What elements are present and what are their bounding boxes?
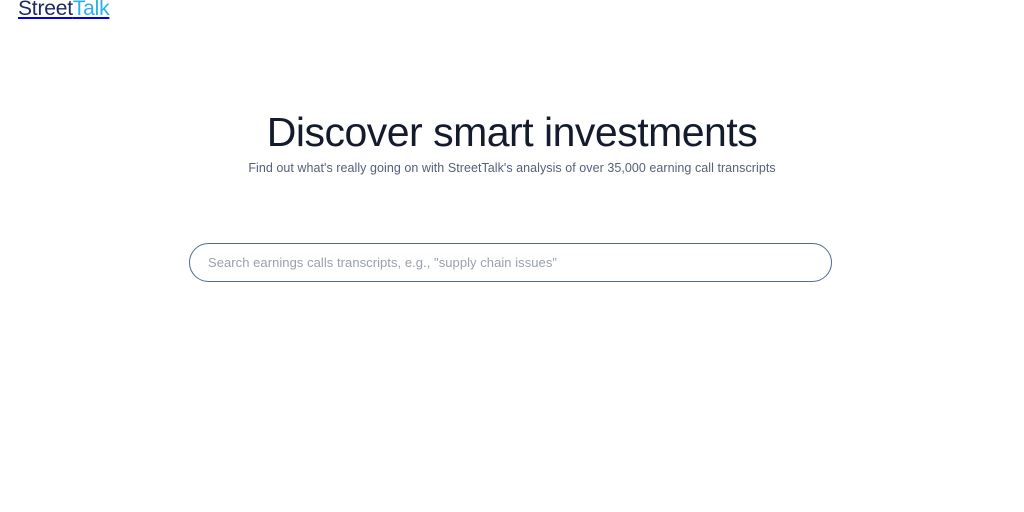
search-container bbox=[189, 243, 832, 282]
page-subtitle: Find out what's really going on with Str… bbox=[0, 160, 1024, 177]
search-box[interactable] bbox=[189, 243, 832, 282]
page-title: Discover smart investments bbox=[0, 108, 1024, 156]
hero-section: Discover smart investments Find out what… bbox=[0, 0, 1024, 512]
landing-page: StreetTalk Discover smart investments Fi… bbox=[0, 0, 1024, 512]
search-input[interactable] bbox=[208, 244, 813, 281]
